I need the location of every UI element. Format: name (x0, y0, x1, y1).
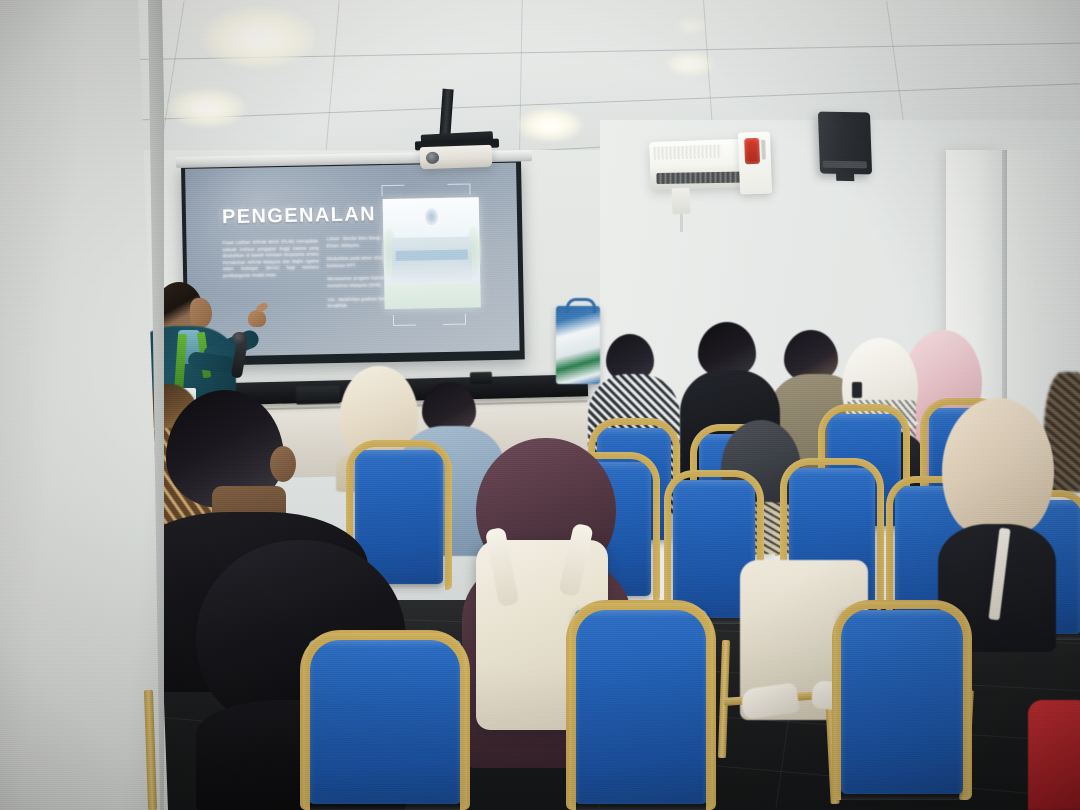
attendee-red-sleeve (1028, 700, 1080, 810)
ceiling-projector (420, 145, 493, 169)
attendee-ear (270, 446, 296, 482)
mobile-phone (852, 382, 862, 398)
ceiling-light (200, 6, 316, 68)
air-conditioner-control-panel (738, 131, 772, 194)
presenter-hand (248, 310, 266, 327)
slide-title: PENGENALAN (222, 203, 376, 229)
room-photo-scene: PENGENALAN Pusat Latihan IKRAM MAIS (PLI… (0, 0, 1080, 810)
chair (566, 600, 716, 810)
ceiling-light (517, 108, 583, 142)
chair (832, 600, 972, 800)
indicator-light-icon (744, 138, 760, 165)
chair (300, 630, 470, 810)
tote-bag-handle (566, 298, 596, 313)
ceiling-light (168, 88, 246, 128)
ceiling-light (666, 52, 714, 76)
presenter-face (190, 298, 212, 328)
slide-bracket-bottom-left (393, 315, 416, 326)
projector-lens-icon (426, 152, 439, 164)
ac-drain-box (672, 188, 691, 215)
slide-bracket-top-left (381, 185, 404, 196)
slide-bracket-top-right (447, 183, 470, 194)
slide-photo-building (383, 197, 481, 309)
wall-speaker (818, 112, 872, 175)
ceiling-light (676, 18, 706, 34)
microphone-head-icon (232, 332, 247, 345)
slide-text-left: Pusat Latihan IKRAM MAIS (PLIM) merupaka… (222, 238, 319, 286)
slide-bracket-bottom-right (443, 314, 466, 325)
